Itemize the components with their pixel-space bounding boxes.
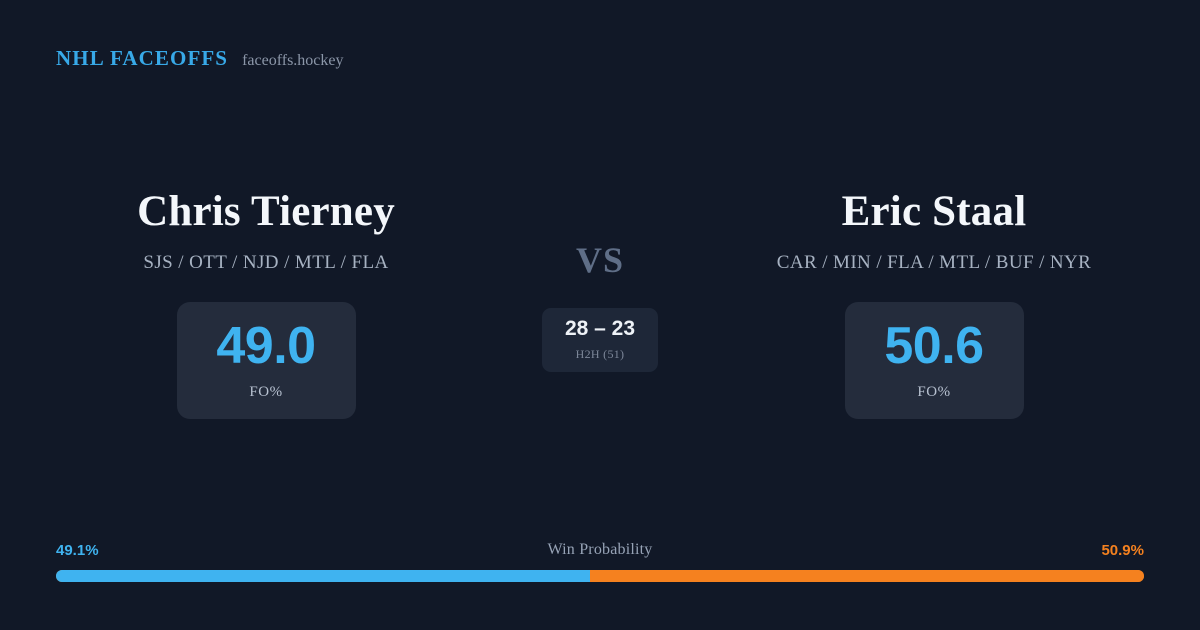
win-probability-section: 49.1% Win Probability 50.9%: [56, 540, 1144, 582]
win-probability-labels: 49.1% Win Probability 50.9%: [56, 540, 1144, 560]
win-probability-title: Win Probability: [547, 541, 652, 559]
stat-label-left: FO%: [249, 384, 282, 401]
stat-value-left: 49.0: [216, 320, 315, 372]
win-probability-left-percent: 49.1%: [56, 542, 99, 559]
win-probability-bar: [56, 570, 1144, 582]
stat-card-left: 49.0 FO%: [177, 302, 356, 419]
player-card-left: Chris Tierney SJS / OTT / NJD / MTL / FL…: [32, 190, 500, 419]
player-name-right: Eric Staal: [842, 190, 1027, 233]
brand-domain: faceoffs.hockey: [242, 52, 343, 70]
head-to-head-box: 28 – 23 H2H (51): [542, 308, 658, 372]
player-teams-right: CAR / MIN / FLA / MTL / BUF / NYR: [777, 252, 1091, 274]
versus-column: VS 28 – 23 H2H (51): [500, 190, 700, 372]
site-header: NHL FACEOFFS faceoffs.hockey: [56, 46, 344, 71]
stat-card-right: 50.6 FO%: [845, 302, 1024, 419]
head-to-head-label: H2H (51): [576, 347, 625, 362]
versus-label: VS: [576, 242, 624, 278]
player-name-left: Chris Tierney: [137, 190, 395, 233]
player-teams-left: SJS / OTT / NJD / MTL / FLA: [143, 252, 388, 274]
matchup-section: Chris Tierney SJS / OTT / NJD / MTL / FL…: [0, 190, 1200, 419]
win-probability-bar-left-fill: [56, 570, 590, 582]
stat-label-right: FO%: [917, 384, 950, 401]
win-probability-right-percent: 50.9%: [1101, 542, 1144, 559]
head-to-head-score: 28 – 23: [565, 318, 635, 339]
brand-title: NHL FACEOFFS: [56, 46, 228, 71]
stat-value-right: 50.6: [884, 320, 983, 372]
win-probability-bar-right-fill: [590, 570, 1144, 582]
player-card-right: Eric Staal CAR / MIN / FLA / MTL / BUF /…: [700, 190, 1168, 419]
